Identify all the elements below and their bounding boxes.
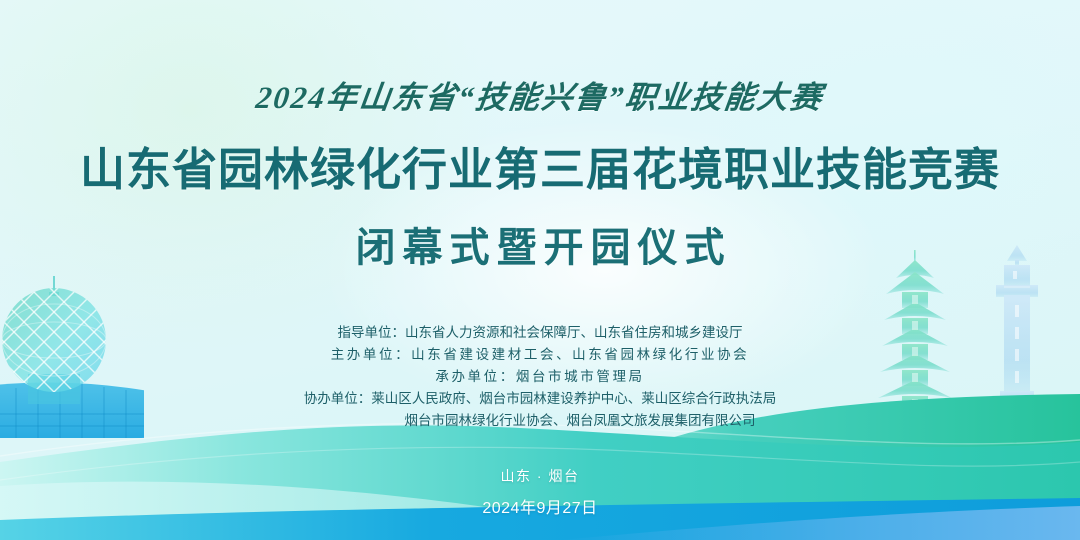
main-title: 山东省园林绿化行业第三届花境职业技能竞赛 xyxy=(0,133,1080,198)
organizer-line-host: 主办单位：山东省建设建材工会、山东省园林绿化行业协会 xyxy=(0,344,1080,366)
organizer-line-guidance: 指导单位：山东省人力资源和社会保障厅、山东省住房和城乡建设厅 xyxy=(0,322,1080,344)
event-banner: 2024年山东省“技能兴鲁”职业技能大赛 山东省园林绿化行业第三届花境职业技能竞… xyxy=(0,0,1080,540)
organizer-block: 指导单位：山东省人力资源和社会保障厅、山东省住房和城乡建设厅 主办单位：山东省建… xyxy=(0,322,1080,432)
organizer-line-coorganizer-cont: 烟台市园林绿化行业协会、烟台凤凰文旅发展集团有限公司 xyxy=(0,410,1080,432)
organizer-line-undertaker: 承办单位：烟台市城市管理局 xyxy=(0,366,1080,388)
venue-date: 2024年9月27日 xyxy=(0,494,1080,518)
venue-place: 山东 · 烟台 xyxy=(0,466,1080,486)
venue-block: 山东 · 烟台 2024年9月27日 xyxy=(0,466,1080,518)
calligraphy-headline: 2024年山东省“技能兴鲁”职业技能大赛 xyxy=(0,72,1080,117)
title-stack: 2024年山东省“技能兴鲁”职业技能大赛 山东省园林绿化行业第三届花境职业技能竞… xyxy=(0,0,1080,273)
organizer-line-coorganizer: 协办单位：莱山区人民政府、烟台市园林建设养护中心、莱山区综合行政执法局 xyxy=(0,388,1080,410)
sub-title: 闭幕式暨开园仪式 xyxy=(0,215,1080,273)
